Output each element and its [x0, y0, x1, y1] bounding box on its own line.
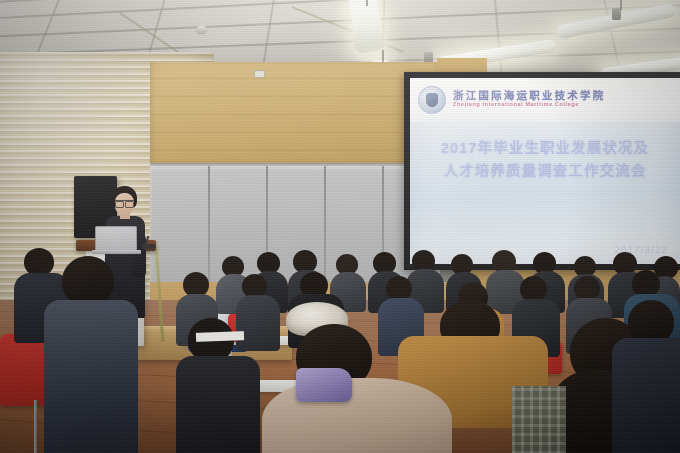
- wall-wood-panel: [150, 62, 440, 168]
- projection-screen[interactable]: 浙江国际海运职业技术学院 Zhejiang International Mari…: [410, 78, 680, 264]
- laptop-base: [92, 250, 141, 254]
- laptop-screen: [95, 226, 137, 252]
- conference-photo: 浙江国际海运职业技术学院 Zhejiang International Mari…: [0, 0, 680, 453]
- purple-bag: [296, 368, 352, 402]
- eyeglasses-icon: [115, 200, 134, 206]
- paper-sheet: [196, 331, 244, 342]
- light-stem-3: [620, 0, 622, 10]
- light-stem-1: [366, 0, 368, 6]
- screen-glare: [410, 78, 680, 264]
- smoke-detector-1: [196, 26, 207, 33]
- plaid-shirt: [512, 386, 566, 453]
- wall-vent: [254, 70, 265, 78]
- chair-leg: [34, 400, 37, 453]
- microphone-base: [142, 244, 156, 249]
- ceiling-light-1: [349, 0, 384, 53]
